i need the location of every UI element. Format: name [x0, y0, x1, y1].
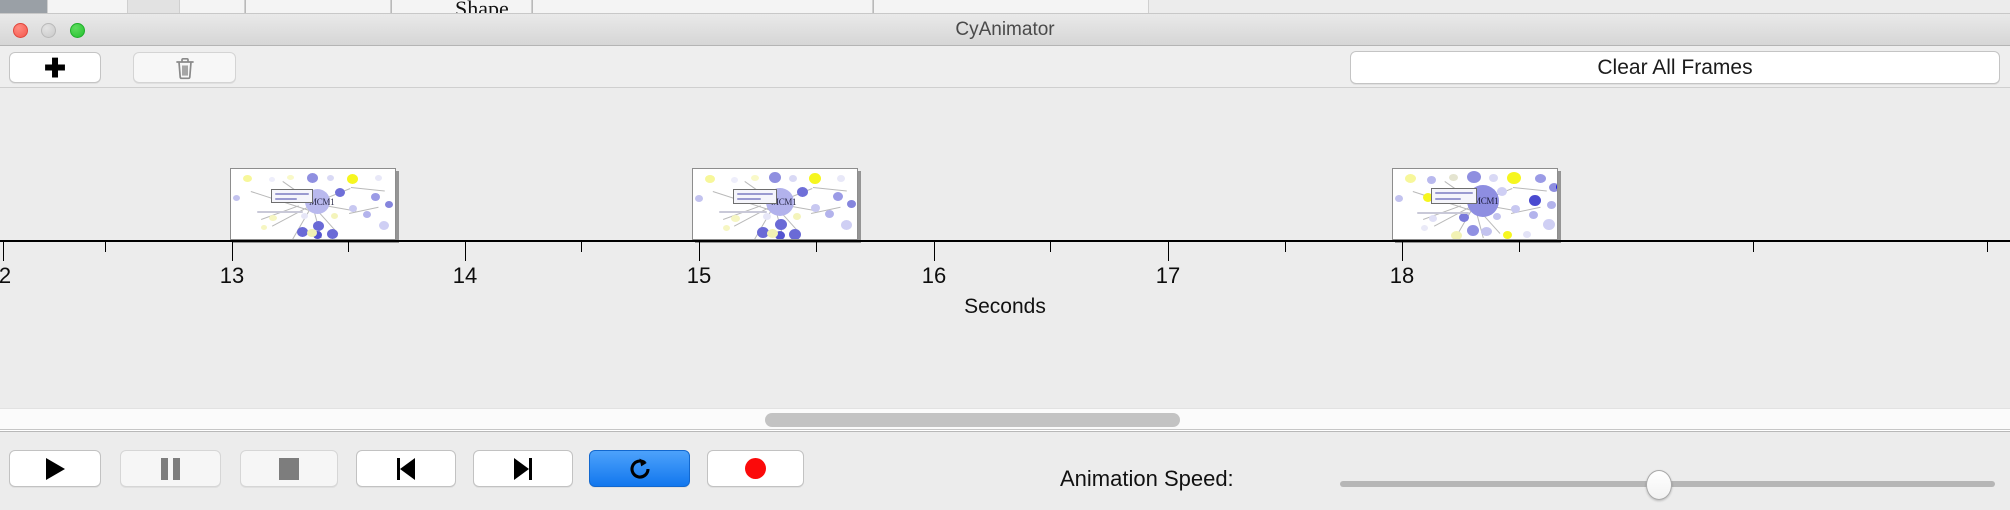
stop-button[interactable] [240, 450, 338, 487]
axis-title: Seconds [0, 295, 2010, 319]
network-callout [271, 189, 313, 203]
play-icon [46, 458, 65, 480]
host-app-background-strip: Shape [0, 0, 2010, 14]
skip-to-start-button[interactable] [356, 450, 456, 487]
skip-start-icon [397, 458, 415, 480]
network-preview: MCM1 [693, 169, 857, 239]
axis-tick-label: 18 [1390, 263, 1414, 289]
stop-icon [279, 458, 299, 480]
skip-to-end-button[interactable] [473, 450, 573, 487]
axis-tick-label: 14 [453, 263, 477, 289]
host-app-label: Shape [455, 0, 509, 14]
cyanimator-window: Shape CyAnimator ✚ Clear All Frames [0, 0, 2010, 510]
axis-tick-label: 2 [0, 263, 11, 289]
timeline-panel[interactable]: MCM1 [0, 88, 2010, 408]
transport-bar: Animation Speed: [0, 431, 2010, 510]
add-frame-button[interactable]: ✚ [9, 52, 101, 83]
pause-button[interactable] [120, 450, 221, 487]
record-icon [745, 458, 766, 479]
axis-tick-label: 16 [922, 263, 946, 289]
network-callout [733, 189, 777, 204]
plus-icon: ✚ [44, 55, 66, 81]
network-preview: MCM1 [231, 169, 395, 239]
animation-speed-slider-thumb[interactable] [1646, 470, 1672, 500]
skip-end-icon [514, 458, 532, 480]
network-preview: MCM1 [1393, 169, 1557, 239]
delete-frame-button[interactable] [133, 52, 236, 83]
trash-icon [174, 56, 196, 80]
play-button[interactable] [9, 450, 101, 487]
timeline-frame-thumbnail[interactable]: MCM1 [230, 168, 396, 240]
frames-toolbar: ✚ Clear All Frames [0, 46, 2010, 88]
axis-tick-label: 17 [1156, 263, 1180, 289]
loop-icon [627, 456, 653, 482]
network-callout [1431, 188, 1477, 204]
scrollbar-thumb[interactable] [765, 413, 1180, 427]
window-title: CyAnimator [0, 14, 2010, 46]
clear-all-frames-label: Clear All Frames [1597, 56, 1752, 80]
loop-button[interactable] [589, 450, 690, 487]
timeline-frame-thumbnail[interactable]: MCM1 [692, 168, 858, 240]
animation-speed-label: Animation Speed: [1060, 466, 1234, 492]
title-bar: CyAnimator [0, 14, 2010, 46]
record-button[interactable] [707, 450, 804, 487]
axis-tick-label: 13 [220, 263, 244, 289]
timeline-axis [0, 240, 2010, 242]
pause-icon [161, 458, 180, 480]
timeline-scrollbar[interactable] [0, 408, 2010, 430]
timeline-frame-thumbnail[interactable]: MCM1 [1392, 168, 1558, 240]
clear-all-frames-button[interactable]: Clear All Frames [1350, 51, 2000, 84]
axis-tick-label: 15 [687, 263, 711, 289]
